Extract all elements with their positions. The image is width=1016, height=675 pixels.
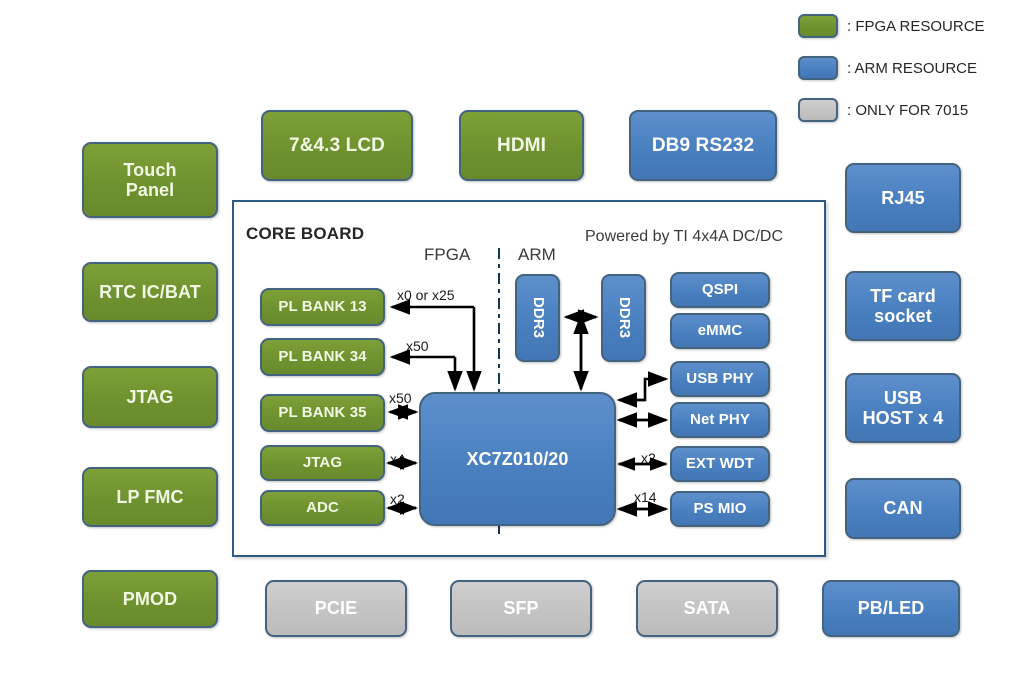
legend-swatch-arm-resource: [798, 56, 838, 80]
block-jtag-outer[interactable]: JTAG: [82, 366, 218, 428]
block-tf-card-socket[interactable]: TF card socket: [845, 271, 961, 341]
legend-item-arm-resource: : ARM RESOURCE: [798, 52, 1008, 84]
block-net-phy[interactable]: Net PHY: [670, 402, 770, 438]
block-qspi[interactable]: QSPI: [670, 272, 770, 308]
legend-label-arm-resource: : ARM RESOURCE: [847, 60, 977, 77]
block-can[interactable]: CAN: [845, 478, 961, 539]
legend-label-only-for-7015: : ONLY FOR 7015: [847, 102, 968, 119]
bus-label-pl-bank-13: x0 or x25: [397, 287, 455, 303]
block-emmc[interactable]: eMMC: [670, 313, 770, 349]
block-pcie[interactable]: PCIE: [265, 580, 407, 637]
block-ddr3-left[interactable]: DDR3: [515, 274, 560, 362]
block-soc-xc7z[interactable]: XC7Z010/20: [419, 392, 616, 526]
power-supply-label: Powered by TI 4x4A DC/DC: [585, 228, 783, 246]
core-board-title: CORE BOARD: [246, 224, 364, 244]
legend-label-fpga-resource: : FPGA RESOURCE: [847, 18, 985, 35]
legend-item-only-for-7015: : ONLY FOR 7015: [798, 94, 1008, 126]
block-adc[interactable]: ADC: [260, 490, 385, 526]
block-usb-phy[interactable]: USB PHY: [670, 361, 770, 397]
block-pb-led[interactable]: PB/LED: [822, 580, 960, 637]
block-pl-bank-35[interactable]: PL BANK 35: [260, 394, 385, 432]
block-usb-host[interactable]: USB HOST x 4: [845, 373, 961, 443]
bus-label-adc: x2: [390, 491, 405, 507]
block-sfp[interactable]: SFP: [450, 580, 592, 637]
block-jtag-inner[interactable]: JTAG: [260, 445, 385, 481]
fpga-side-label: FPGA: [424, 245, 470, 265]
bus-label-ps-mio: x14: [634, 489, 657, 505]
bus-label-jtag-inner: x4: [390, 451, 405, 467]
block-touch-panel[interactable]: Touch Panel: [82, 142, 218, 218]
diagram-canvas: : FPGA RESOURCE : ARM RESOURCE : ONLY FO…: [0, 0, 1016, 675]
bus-label-ext-wdt: x2: [641, 450, 656, 466]
block-lp-fmc[interactable]: LP FMC: [82, 467, 218, 527]
block-ddr3-right[interactable]: DDR3: [601, 274, 646, 362]
block-lcd[interactable]: 7&4.3 LCD: [261, 110, 413, 181]
legend: : FPGA RESOURCE : ARM RESOURCE : ONLY FO…: [798, 10, 1008, 136]
legend-item-fpga-resource: : FPGA RESOURCE: [798, 10, 1008, 42]
bus-label-pl-bank-35: x50: [389, 390, 412, 406]
bus-label-pl-bank-34: x50: [406, 338, 429, 354]
ddr3-left-label: DDR3: [529, 297, 546, 338]
block-pmod[interactable]: PMOD: [82, 570, 218, 628]
ddr3-right-label: DDR3: [615, 297, 632, 338]
legend-swatch-only-for-7015: [798, 98, 838, 122]
block-db9-rs232[interactable]: DB9 RS232: [629, 110, 777, 181]
block-pl-bank-34[interactable]: PL BANK 34: [260, 338, 385, 376]
legend-swatch-fpga-resource: [798, 14, 838, 38]
block-ps-mio[interactable]: PS MIO: [670, 491, 770, 527]
block-rtc-ic-bat[interactable]: RTC IC/BAT: [82, 262, 218, 322]
block-hdmi[interactable]: HDMI: [459, 110, 584, 181]
block-sata[interactable]: SATA: [636, 580, 778, 637]
block-rj45[interactable]: RJ45: [845, 163, 961, 233]
block-ext-wdt[interactable]: EXT WDT: [670, 446, 770, 482]
arm-side-label: ARM: [518, 245, 556, 265]
block-pl-bank-13[interactable]: PL BANK 13: [260, 288, 385, 326]
